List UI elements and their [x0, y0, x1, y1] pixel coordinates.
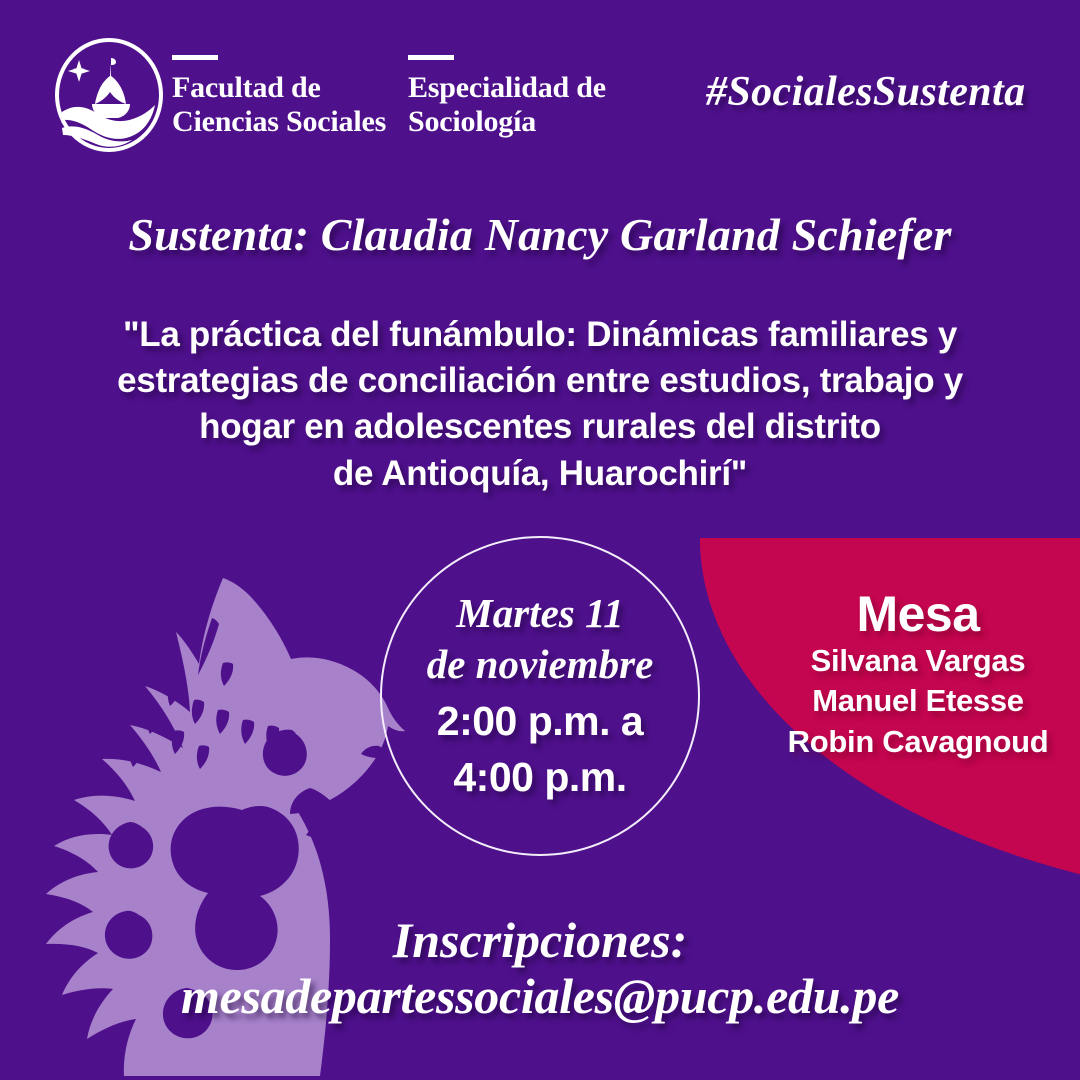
thesis-title-line: "La práctica del funámbulo: Dinámicas fa…: [78, 312, 1002, 358]
jury-panel-title: Mesa: [768, 588, 1068, 641]
campaign-hashtag: #SocialesSustenta: [706, 68, 1026, 116]
brand-faculty: Facultad de Ciencias Sociales: [172, 55, 386, 138]
thesis-title: "La práctica del funámbulo: Dinámicas fa…: [78, 312, 1002, 497]
brand-specialty-line1: Especialidad de: [408, 71, 606, 105]
thesis-title-line: de Antioquía, Huarochirí": [78, 451, 1002, 497]
event-poster: Facultad de Ciencias Sociales Especialid…: [0, 0, 1080, 1080]
event-time-line2: 4:00 p.m.: [370, 751, 710, 803]
brand-faculty-line1: Facultad de: [172, 71, 386, 105]
registration-label: Inscripciones:: [0, 912, 1080, 968]
brand-specialty-line2: Sociología: [408, 105, 606, 139]
presenter-line: Sustenta: Claudia Nancy Garland Schiefer: [0, 208, 1080, 261]
registration-email[interactable]: mesadepartessociales@pucp.edu.pe: [0, 968, 1080, 1024]
brand-rule: [172, 55, 218, 60]
event-date-line1: Martes 11: [370, 588, 710, 639]
registration-block: Inscripciones: mesadepartessociales@pucp…: [0, 912, 1080, 1024]
brand-rule: [408, 55, 454, 60]
event-datetime: Martes 11 de noviembre 2:00 p.m. a 4:00 …: [370, 588, 710, 803]
brand-specialty: Especialidad de Sociología: [408, 55, 606, 138]
thesis-title-line: estrategias de conciliación entre estudi…: [78, 358, 1002, 404]
jury-member: Manuel Etesse: [768, 681, 1068, 722]
jury-member: Silvana Vargas: [768, 641, 1068, 682]
event-time-line1: 2:00 p.m. a: [370, 695, 710, 747]
ship-star-waves-logo-icon: [48, 36, 170, 154]
jury-panel: Mesa Silvana Vargas Manuel Etesse Robin …: [768, 588, 1068, 763]
event-date-line2: de noviembre: [370, 639, 710, 690]
thesis-title-line: hogar en adolescentes rurales del distri…: [78, 404, 1002, 450]
brand-faculty-line2: Ciencias Sociales: [172, 105, 386, 139]
jury-member: Robin Cavagnoud: [768, 722, 1068, 763]
poster-header: Facultad de Ciencias Sociales Especialid…: [0, 0, 1080, 175]
